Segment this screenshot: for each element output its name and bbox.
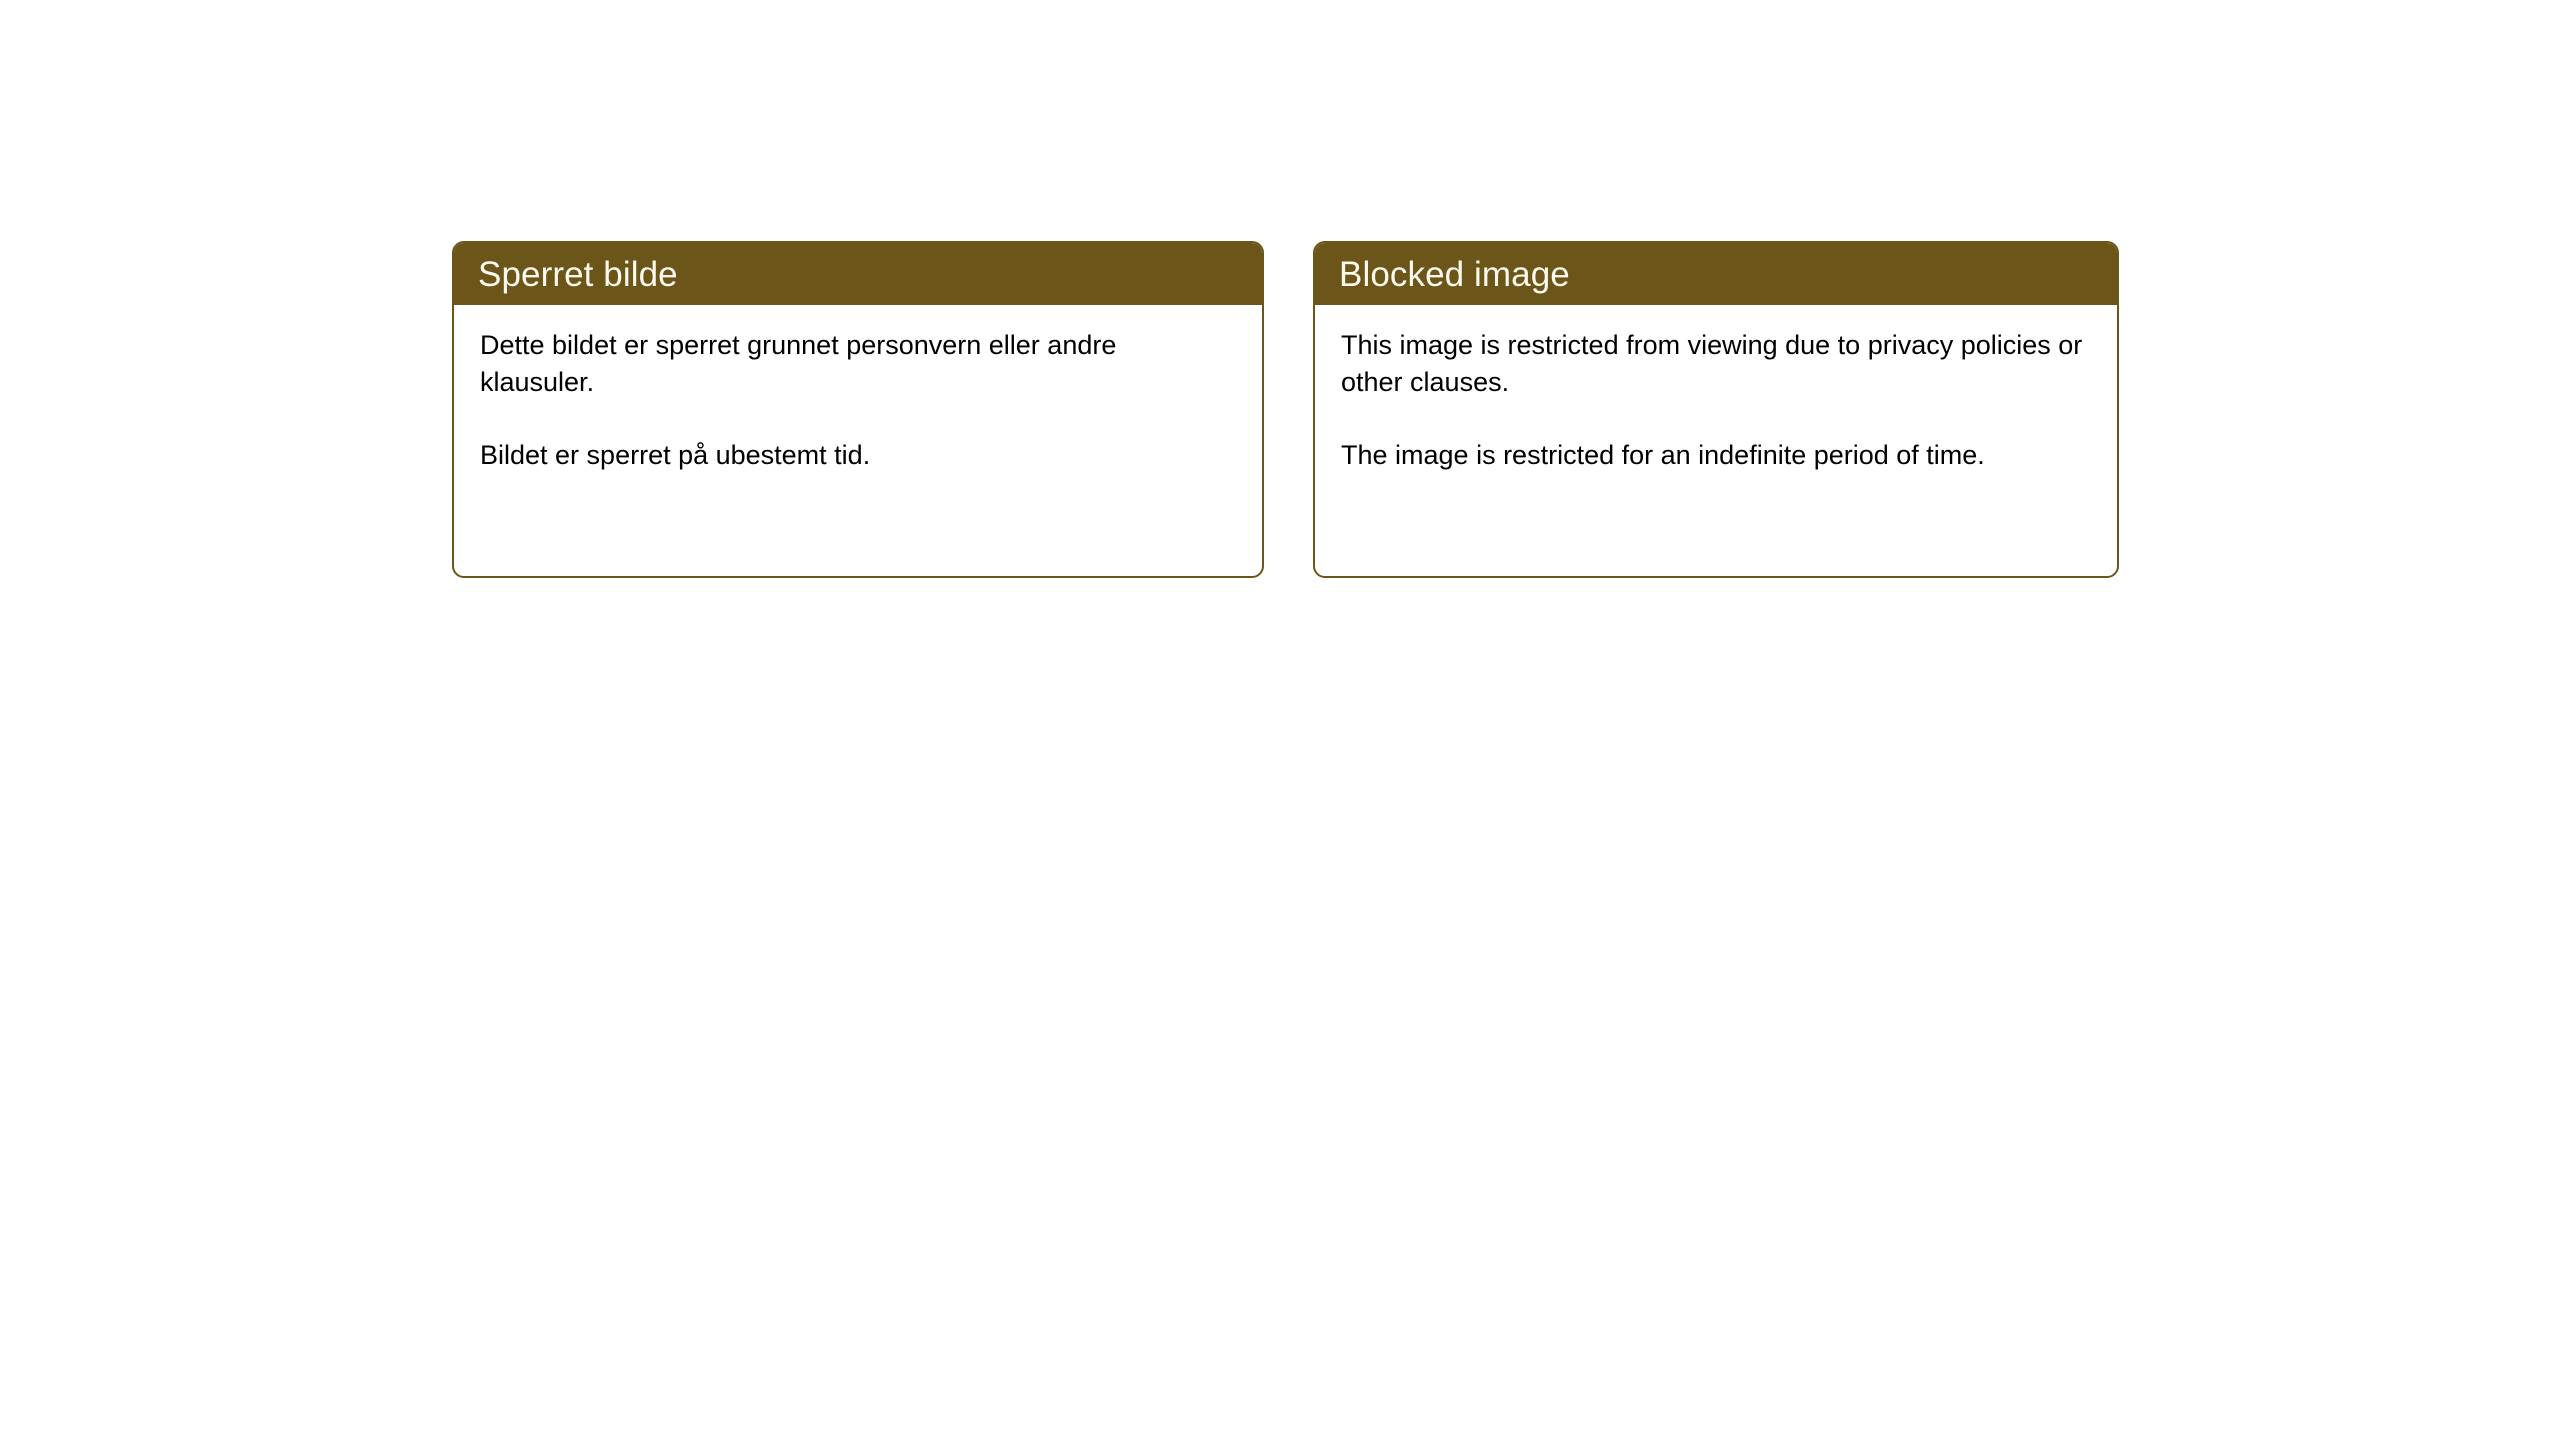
blocked-image-panel-norwegian: Sperret bilde Dette bildet er sperret gr… [452,241,1264,578]
page-canvas: Sperret bilde Dette bildet er sperret gr… [0,0,2560,1440]
panel-message-primary-english: This image is restricted from viewing du… [1341,327,2091,400]
panel-message-primary-norwegian: Dette bildet er sperret grunnet personve… [480,327,1236,400]
panel-message-secondary-english: The image is restricted for an indefinit… [1341,437,2091,474]
panel-body-norwegian: Dette bildet er sperret grunnet personve… [454,305,1262,494]
panel-header-norwegian: Sperret bilde [454,243,1262,305]
panel-body-english: This image is restricted from viewing du… [1315,305,2117,494]
panel-title-norwegian: Sperret bilde [478,257,678,292]
blocked-image-panel-english: Blocked image This image is restricted f… [1313,241,2119,578]
panel-title-english: Blocked image [1339,257,1570,292]
panel-message-secondary-norwegian: Bildet er sperret på ubestemt tid. [480,437,1236,474]
panel-header-english: Blocked image [1315,243,2117,305]
